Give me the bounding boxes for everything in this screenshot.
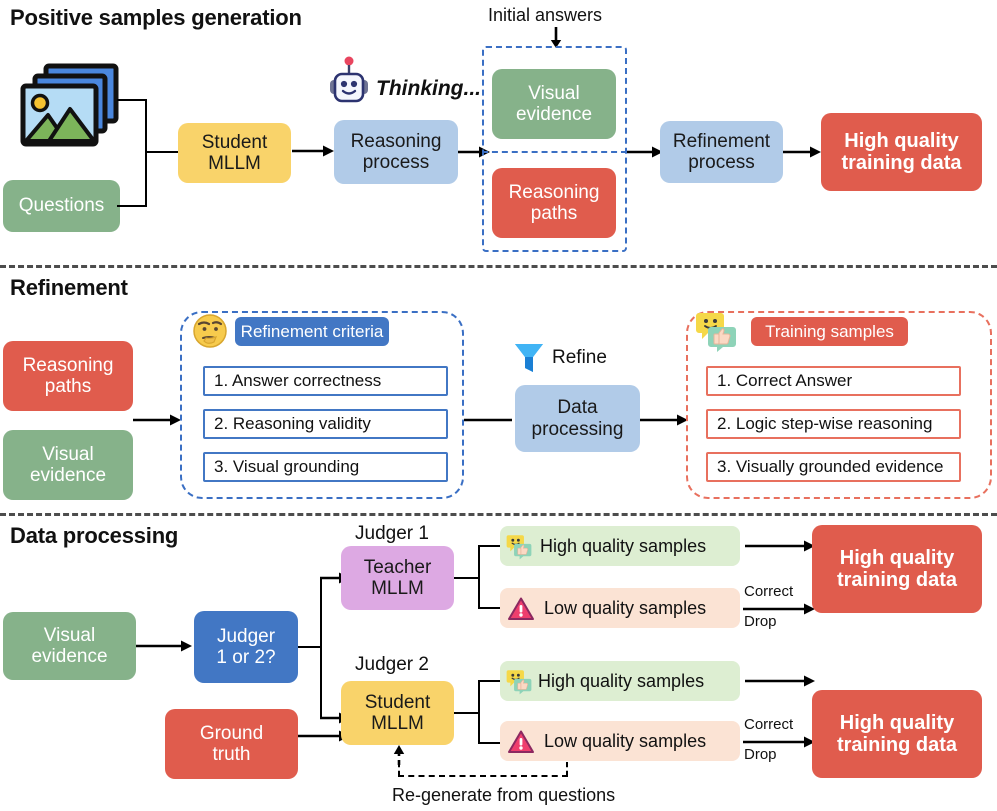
criteria-item-3[interactable]: 3. Visual grounding xyxy=(203,452,448,482)
correct-label-1: Correct xyxy=(744,583,793,600)
arrow-ve-to-judger-switch xyxy=(136,638,192,654)
robot-icon xyxy=(327,56,371,108)
questions-label: Questions xyxy=(19,195,105,216)
data-processing-line2: processing xyxy=(532,419,624,440)
high-quality-samples-label-1: High quality samples xyxy=(540,536,706,557)
training-samples-chip: Training samples xyxy=(751,317,908,346)
refine-visual-evidence-line1: Visual xyxy=(42,444,93,465)
arrow-dataproc-to-samples xyxy=(640,412,688,428)
refinement-criteria-chip: Refinement criteria xyxy=(235,317,389,346)
arrow-initial-answers-down xyxy=(549,27,563,48)
arrow-hq1-to-output xyxy=(745,538,815,554)
thumbs-up-chat-icon xyxy=(695,311,737,353)
low-quality-samples-pill-2[interactable]: Low quality samples xyxy=(500,721,740,761)
refinement-process-label-line2: process xyxy=(688,152,755,173)
connector-teacher-fan-vertical xyxy=(478,546,480,609)
regenerate-feedback-line xyxy=(398,775,568,777)
connector-dpstudent-out xyxy=(454,712,480,714)
initial-answers-label: Initial answers xyxy=(488,5,602,26)
reasoning-process-label-line1: Reasoning xyxy=(351,131,442,152)
dp-ground-truth-box[interactable]: Ground truth xyxy=(165,709,298,779)
judger-switch-line1: Judger xyxy=(217,626,275,647)
data-processing-line1: Data xyxy=(557,397,597,418)
connector-dpstudent-fan-vertical xyxy=(478,681,480,744)
refinement-process-box[interactable]: Refinement process xyxy=(660,121,783,183)
dp-student-mllm-line1: Student xyxy=(365,692,431,713)
section-divider-2 xyxy=(0,513,997,516)
connector-dpstudent-to-lq xyxy=(478,742,500,744)
judger-switch-box[interactable]: Judger 1 or 2? xyxy=(194,611,298,683)
judger-2-label: Judger 2 xyxy=(355,654,429,676)
stacked-images-icon xyxy=(18,62,128,157)
refine-visual-evidence-line2: evidence xyxy=(30,465,106,486)
criteria-item-2[interactable]: 2. Reasoning validity xyxy=(203,409,448,439)
section-title-dataproc: Data processing xyxy=(10,523,178,549)
connector-teacher-out xyxy=(454,577,480,579)
sample-item-3[interactable]: 3. Visually grounded evidence xyxy=(706,452,961,482)
section-divider-1 xyxy=(0,265,997,268)
low-quality-samples-label-2: Low quality samples xyxy=(544,731,706,752)
arrow-criteria-to-dataproc xyxy=(464,412,512,428)
connector-judger-branch-vertical xyxy=(320,578,322,718)
refine-label: Refine xyxy=(552,347,607,369)
connector-dpstudent-to-hq xyxy=(478,680,500,682)
section-title-refinement: Refinement xyxy=(10,275,128,301)
high-quality-training-data-box-2[interactable]: High quality training data xyxy=(812,525,982,613)
hq-data-2-line2: training data xyxy=(837,569,957,591)
hq-data-3-line1: High quality xyxy=(840,712,954,734)
refine-visual-evidence-box[interactable]: Visual evidence xyxy=(3,430,133,500)
student-mllm-label-line2: MLLM xyxy=(208,153,261,174)
visual-evidence-label-line1: Visual xyxy=(528,83,579,104)
high-quality-samples-pill-2[interactable]: High quality samples xyxy=(500,661,740,701)
low-quality-samples-label-1: Low quality samples xyxy=(544,598,706,619)
arrow-inputs-to-criteria xyxy=(133,412,181,428)
connector-teacher-to-hq xyxy=(478,545,500,547)
reasoning-paths-label-line1: Reasoning xyxy=(509,182,600,203)
arrow-answers-to-refinement xyxy=(627,144,663,160)
arrow-student-to-reasoning xyxy=(292,143,334,159)
high-quality-training-data-box-3[interactable]: High quality training data xyxy=(812,690,982,778)
arrow-regenerate-to-student xyxy=(392,745,406,765)
high-quality-training-data-box-1[interactable]: High quality training data xyxy=(821,113,982,191)
refinement-process-label-line1: Refinement xyxy=(673,131,770,152)
connector-images-out xyxy=(117,99,147,101)
dp-visual-evidence-line1: Visual xyxy=(44,625,95,646)
connector-questions-out xyxy=(117,205,147,207)
dp-ground-truth-line2: truth xyxy=(212,744,250,765)
drop-label-2: Drop xyxy=(744,746,777,763)
student-mllm-label-line1: Student xyxy=(202,132,268,153)
connector-judger-out xyxy=(298,646,322,648)
sample-item-2[interactable]: 2. Logic step-wise reasoning xyxy=(706,409,961,439)
hq-data-3-line2: training data xyxy=(837,734,957,756)
refine-reasoning-paths-line2: paths xyxy=(45,376,91,397)
reasoning-process-box[interactable]: Reasoning process xyxy=(334,120,458,184)
student-mllm-box[interactable]: Student MLLM xyxy=(178,123,291,183)
data-processing-box[interactable]: Data processing xyxy=(515,385,640,452)
regenerate-feedback-riser xyxy=(566,762,568,776)
dp-visual-evidence-line2: evidence xyxy=(31,646,107,667)
hq-data-1-line1: High quality xyxy=(844,130,958,152)
hq-data-1-line2: training data xyxy=(841,152,961,174)
initial-answers-group-divider xyxy=(482,151,627,153)
reasoning-process-label-line2: process xyxy=(363,152,430,173)
warning-triangle-icon xyxy=(508,597,534,621)
sample-item-1[interactable]: 1. Correct Answer xyxy=(706,366,961,396)
refine-reasoning-paths-box[interactable]: Reasoning paths xyxy=(3,341,133,411)
dp-student-mllm-line2: MLLM xyxy=(371,713,424,734)
thinking-label: Thinking... xyxy=(376,77,481,101)
connector-teacher-to-lq xyxy=(478,607,500,609)
thumbs-up-chat-icon xyxy=(506,669,532,695)
questions-box[interactable]: Questions xyxy=(3,180,120,232)
dp-visual-evidence-box[interactable]: Visual evidence xyxy=(3,612,136,680)
criteria-item-1[interactable]: 1. Answer correctness xyxy=(203,366,448,396)
regenerate-label: Re-generate from questions xyxy=(392,785,615,806)
judger-switch-line2: 1 or 2? xyxy=(216,647,275,668)
high-quality-samples-pill-1[interactable]: High quality samples xyxy=(500,526,740,566)
thumbs-up-chat-icon xyxy=(506,534,532,560)
visual-evidence-box[interactable]: Visual evidence xyxy=(492,69,616,139)
dp-ground-truth-line1: Ground xyxy=(200,723,263,744)
low-quality-samples-pill-1[interactable]: Low quality samples xyxy=(500,588,740,628)
dp-student-mllm-box[interactable]: Student MLLM xyxy=(341,681,454,745)
visual-evidence-label-line2: evidence xyxy=(516,104,592,125)
reasoning-paths-label-line2: paths xyxy=(531,203,577,224)
refine-reasoning-paths-line1: Reasoning xyxy=(23,355,114,376)
funnel-icon xyxy=(513,341,545,375)
section-title-positive: Positive samples generation xyxy=(10,5,302,31)
reasoning-paths-box[interactable]: Reasoning paths xyxy=(492,168,616,238)
thinking-face-icon xyxy=(190,311,230,351)
teacher-mllm-line1: Teacher xyxy=(364,557,432,578)
diagram-canvas: Positive samples generation Questions St… xyxy=(0,0,997,811)
teacher-mllm-box[interactable]: Teacher MLLM xyxy=(341,546,454,610)
hq-data-2-line1: High quality xyxy=(840,547,954,569)
arrow-refinement-to-output xyxy=(783,144,821,160)
connector-merge-to-student xyxy=(145,151,178,153)
arrow-hq2-to-output xyxy=(745,673,815,689)
teacher-mllm-line2: MLLM xyxy=(371,578,424,599)
judger-1-label: Judger 1 xyxy=(355,523,429,545)
warning-triangle-icon xyxy=(508,730,534,754)
drop-label-1: Drop xyxy=(744,613,777,630)
correct-label-2: Correct xyxy=(744,716,793,733)
high-quality-samples-label-2: High quality samples xyxy=(538,671,704,692)
